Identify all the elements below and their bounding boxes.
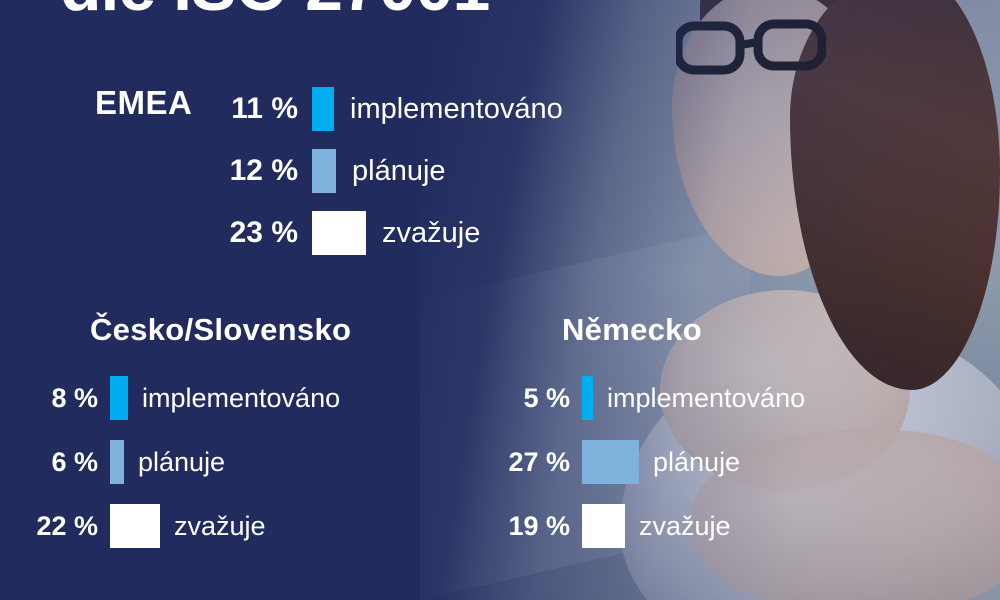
bar-rows-cz-sk: 8 % implementováno 6 % plánuje 22 % zvaž… [0,366,351,558]
bar-row: 11 % implementováno [178,78,563,140]
bar-planning [110,440,124,484]
infographic-canvas: dle ISO 27001 EMEA 11 % implementováno 1… [0,0,1000,600]
bar-value-label: 11 % [178,92,312,126]
bar-row: 6 % plánuje [0,430,351,494]
bar-category-label: plánuje [138,447,225,478]
bar-row: 5 % implementováno [464,366,805,430]
bar-category-label: zvažuje [174,511,266,542]
bar-row: 27 % plánuje [464,430,805,494]
bar-value-label: 19 % [464,511,582,542]
bar-row: 8 % implementováno [0,366,351,430]
bar-row: 19 % zvažuje [464,494,805,558]
bar-considering [110,504,160,548]
bar-value-label: 27 % [464,447,582,478]
content-layer: dle ISO 27001 EMEA 11 % implementováno 1… [0,0,1000,600]
region-title-de: Německo [562,312,805,348]
bar-category-label: plánuje [352,155,446,188]
bar-value-label: 22 % [0,511,110,542]
bar-row: 23 % zvažuje [178,202,563,264]
bar-implemented [582,376,593,420]
bar-considering [312,211,366,255]
page-title: dle ISO 27001 [60,0,489,26]
bar-planning [312,149,336,193]
bar-planning [582,440,639,484]
bar-value-label: 12 % [178,154,312,188]
bar-row: 12 % plánuje [178,140,563,202]
bar-value-label: 23 % [178,216,312,250]
bar-implemented [312,87,334,131]
region-block-de: Německo 5 % implementováno 27 % plánuje … [472,312,805,558]
region-block-cz-sk: Česko/Slovensko 8 % implementováno 6 % p… [0,312,351,558]
bar-category-label: implementováno [350,93,563,126]
bar-row: 22 % zvažuje [0,494,351,558]
bar-rows-emea: 11 % implementováno 12 % plánuje 23 % zv… [178,78,563,264]
region-title-cz-sk: Česko/Slovensko [90,312,351,348]
bar-category-label: zvažuje [639,511,731,542]
bar-category-label: zvažuje [382,217,480,250]
bar-category-label: implementováno [607,383,805,414]
bar-category-label: plánuje [653,447,740,478]
bar-rows-de: 5 % implementováno 27 % plánuje 19 % zva… [464,366,805,558]
bar-category-label: implementováno [142,383,340,414]
bar-considering [582,504,625,548]
bar-value-label: 6 % [0,447,110,478]
bar-implemented [110,376,128,420]
bar-value-label: 5 % [464,383,582,414]
bar-value-label: 8 % [0,383,110,414]
